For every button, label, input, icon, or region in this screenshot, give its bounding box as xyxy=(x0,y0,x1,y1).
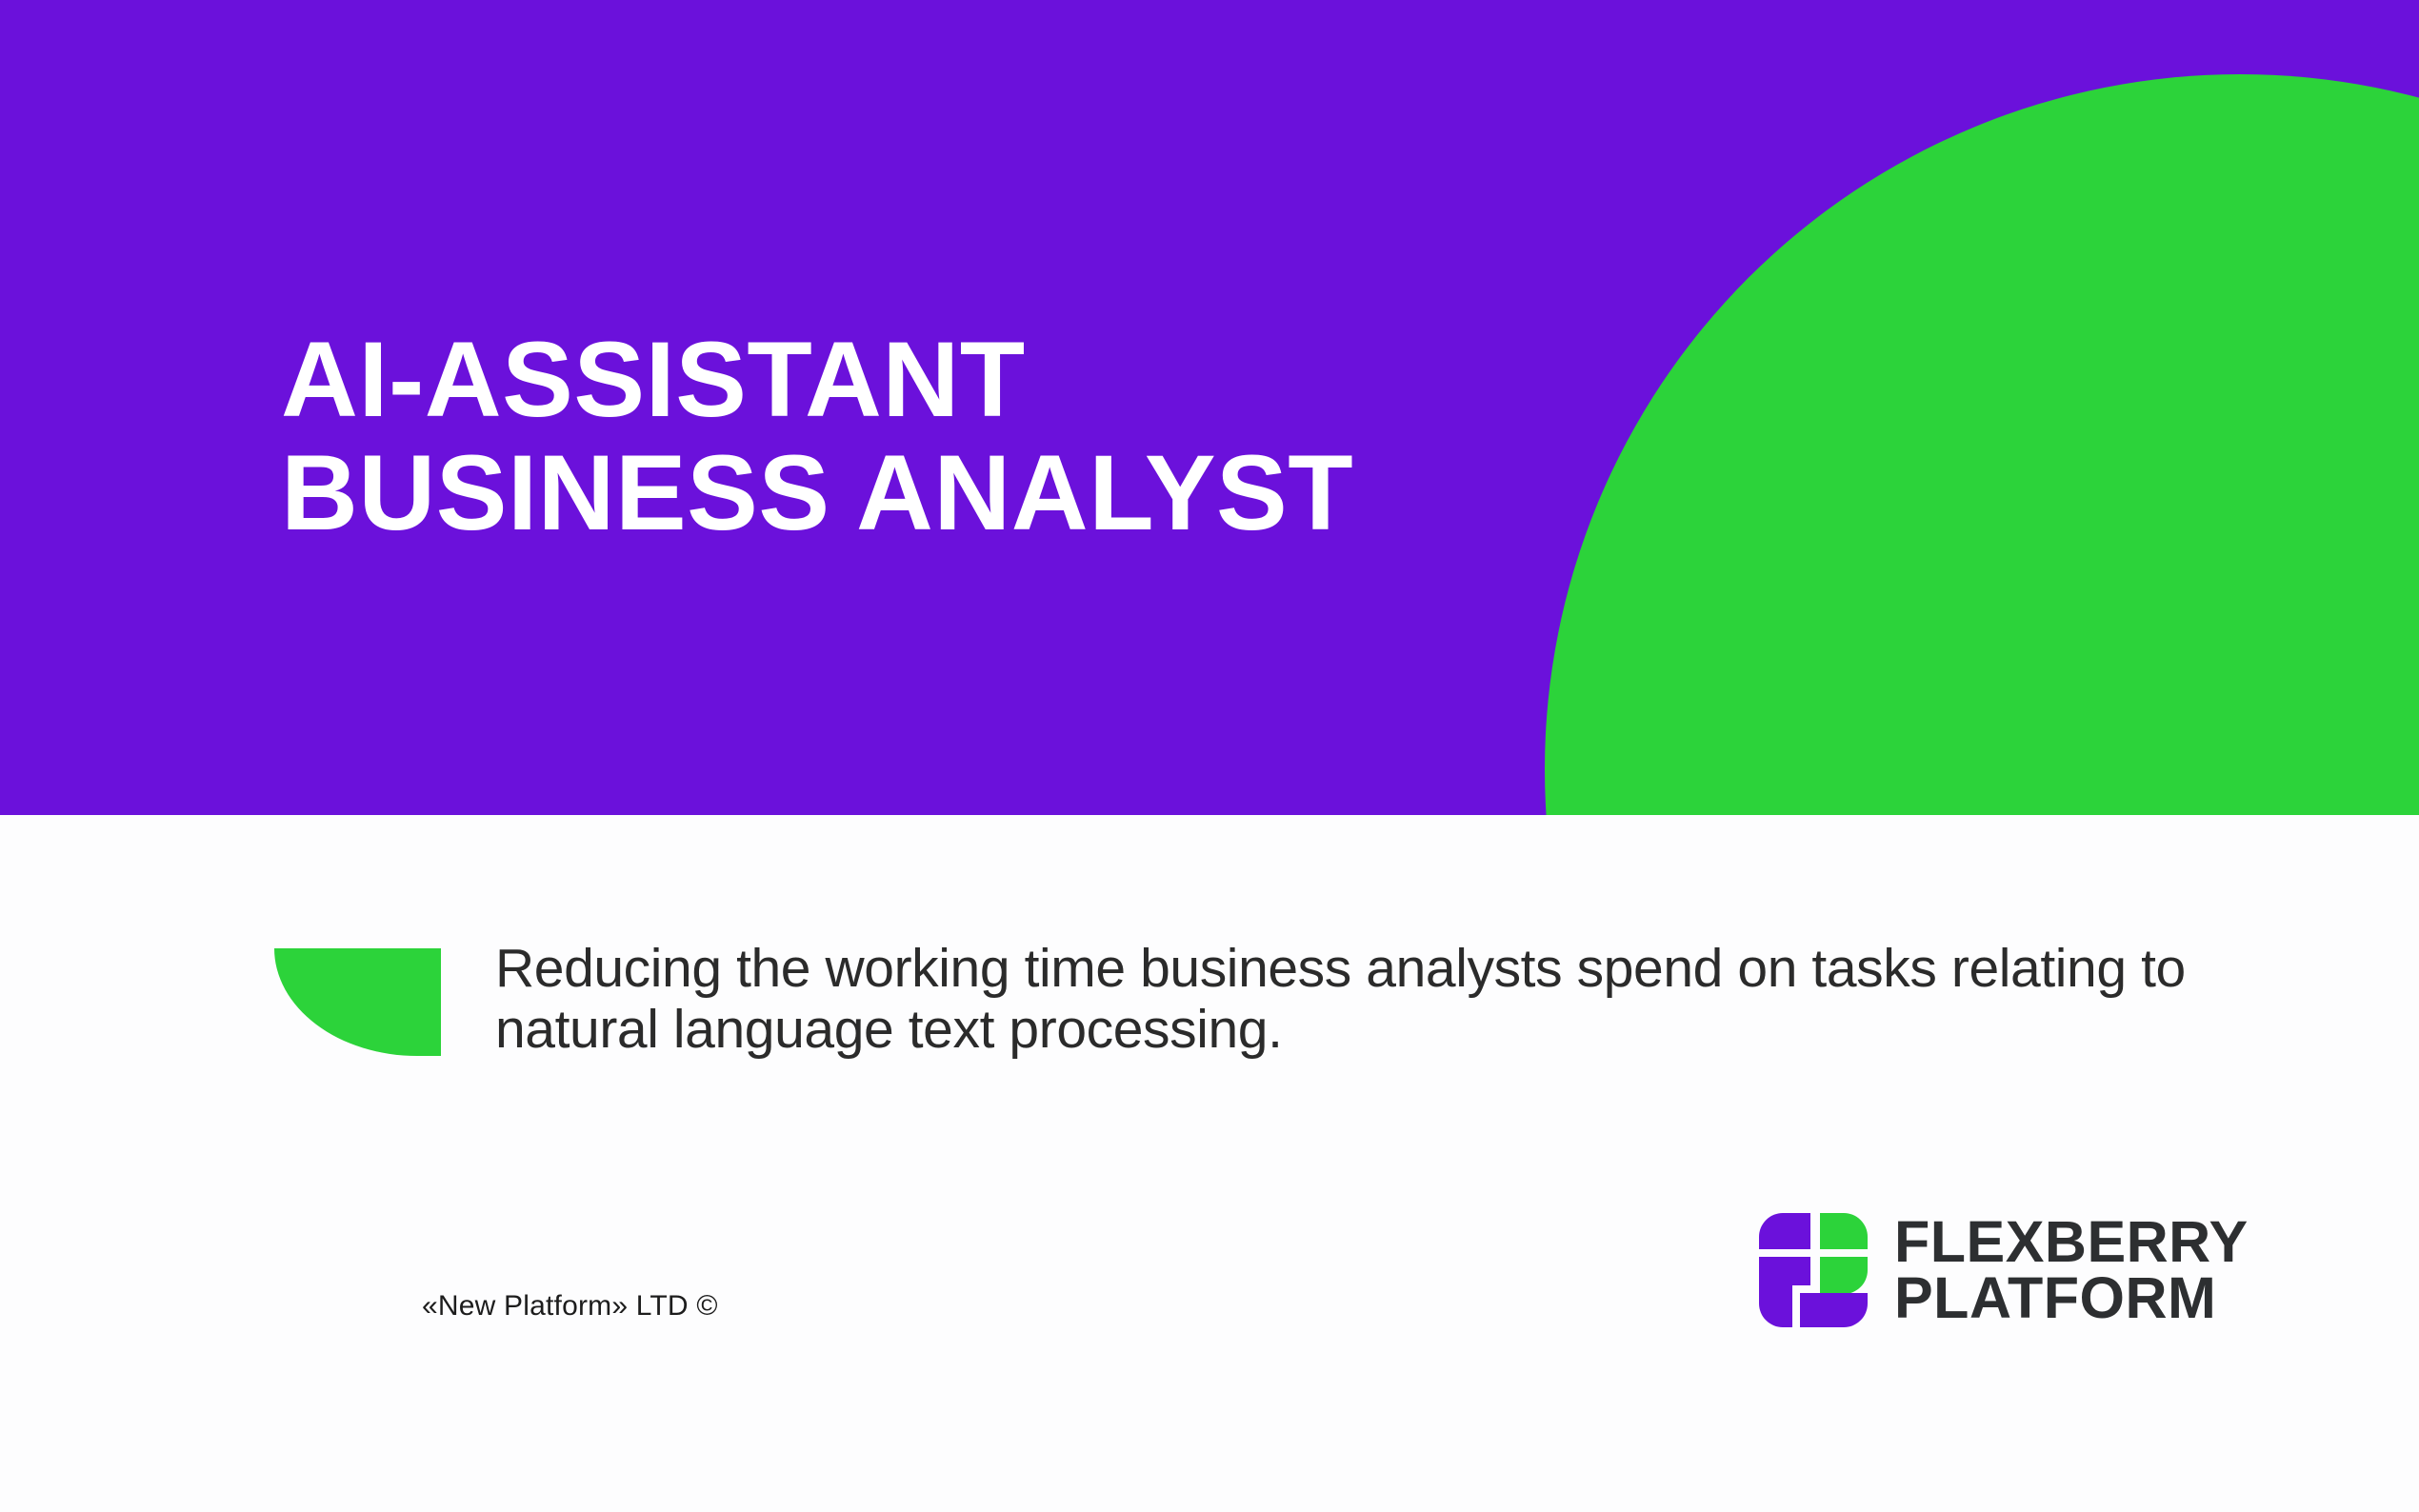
copyright-text: «New Platform» LTD © xyxy=(422,1290,718,1323)
flexberry-platform-logo: FLEXBERRY PLATFORM xyxy=(1757,1211,2249,1329)
page-title: AI-ASSISTANT BUSINESS ANALYST xyxy=(281,324,1353,549)
content-area xyxy=(0,815,2419,1512)
flexberry-logo-wordmark: FLEXBERRY PLATFORM xyxy=(1894,1214,2249,1325)
presentation-slide: AI-ASSISTANT BUSINESS ANALYST Reducing t… xyxy=(0,0,2419,1512)
page-title-line-2: BUSINESS ANALYST xyxy=(281,437,1353,550)
page-title-line-1: AI-ASSISTANT xyxy=(281,324,1353,437)
flexberry-logo-mark-icon xyxy=(1757,1211,1869,1329)
logo-word-platform: PLATFORM xyxy=(1894,1270,2249,1326)
logo-word-flexberry: FLEXBERRY xyxy=(1894,1214,2249,1270)
subtitle-text: Reducing the working time business analy… xyxy=(495,938,2229,1061)
